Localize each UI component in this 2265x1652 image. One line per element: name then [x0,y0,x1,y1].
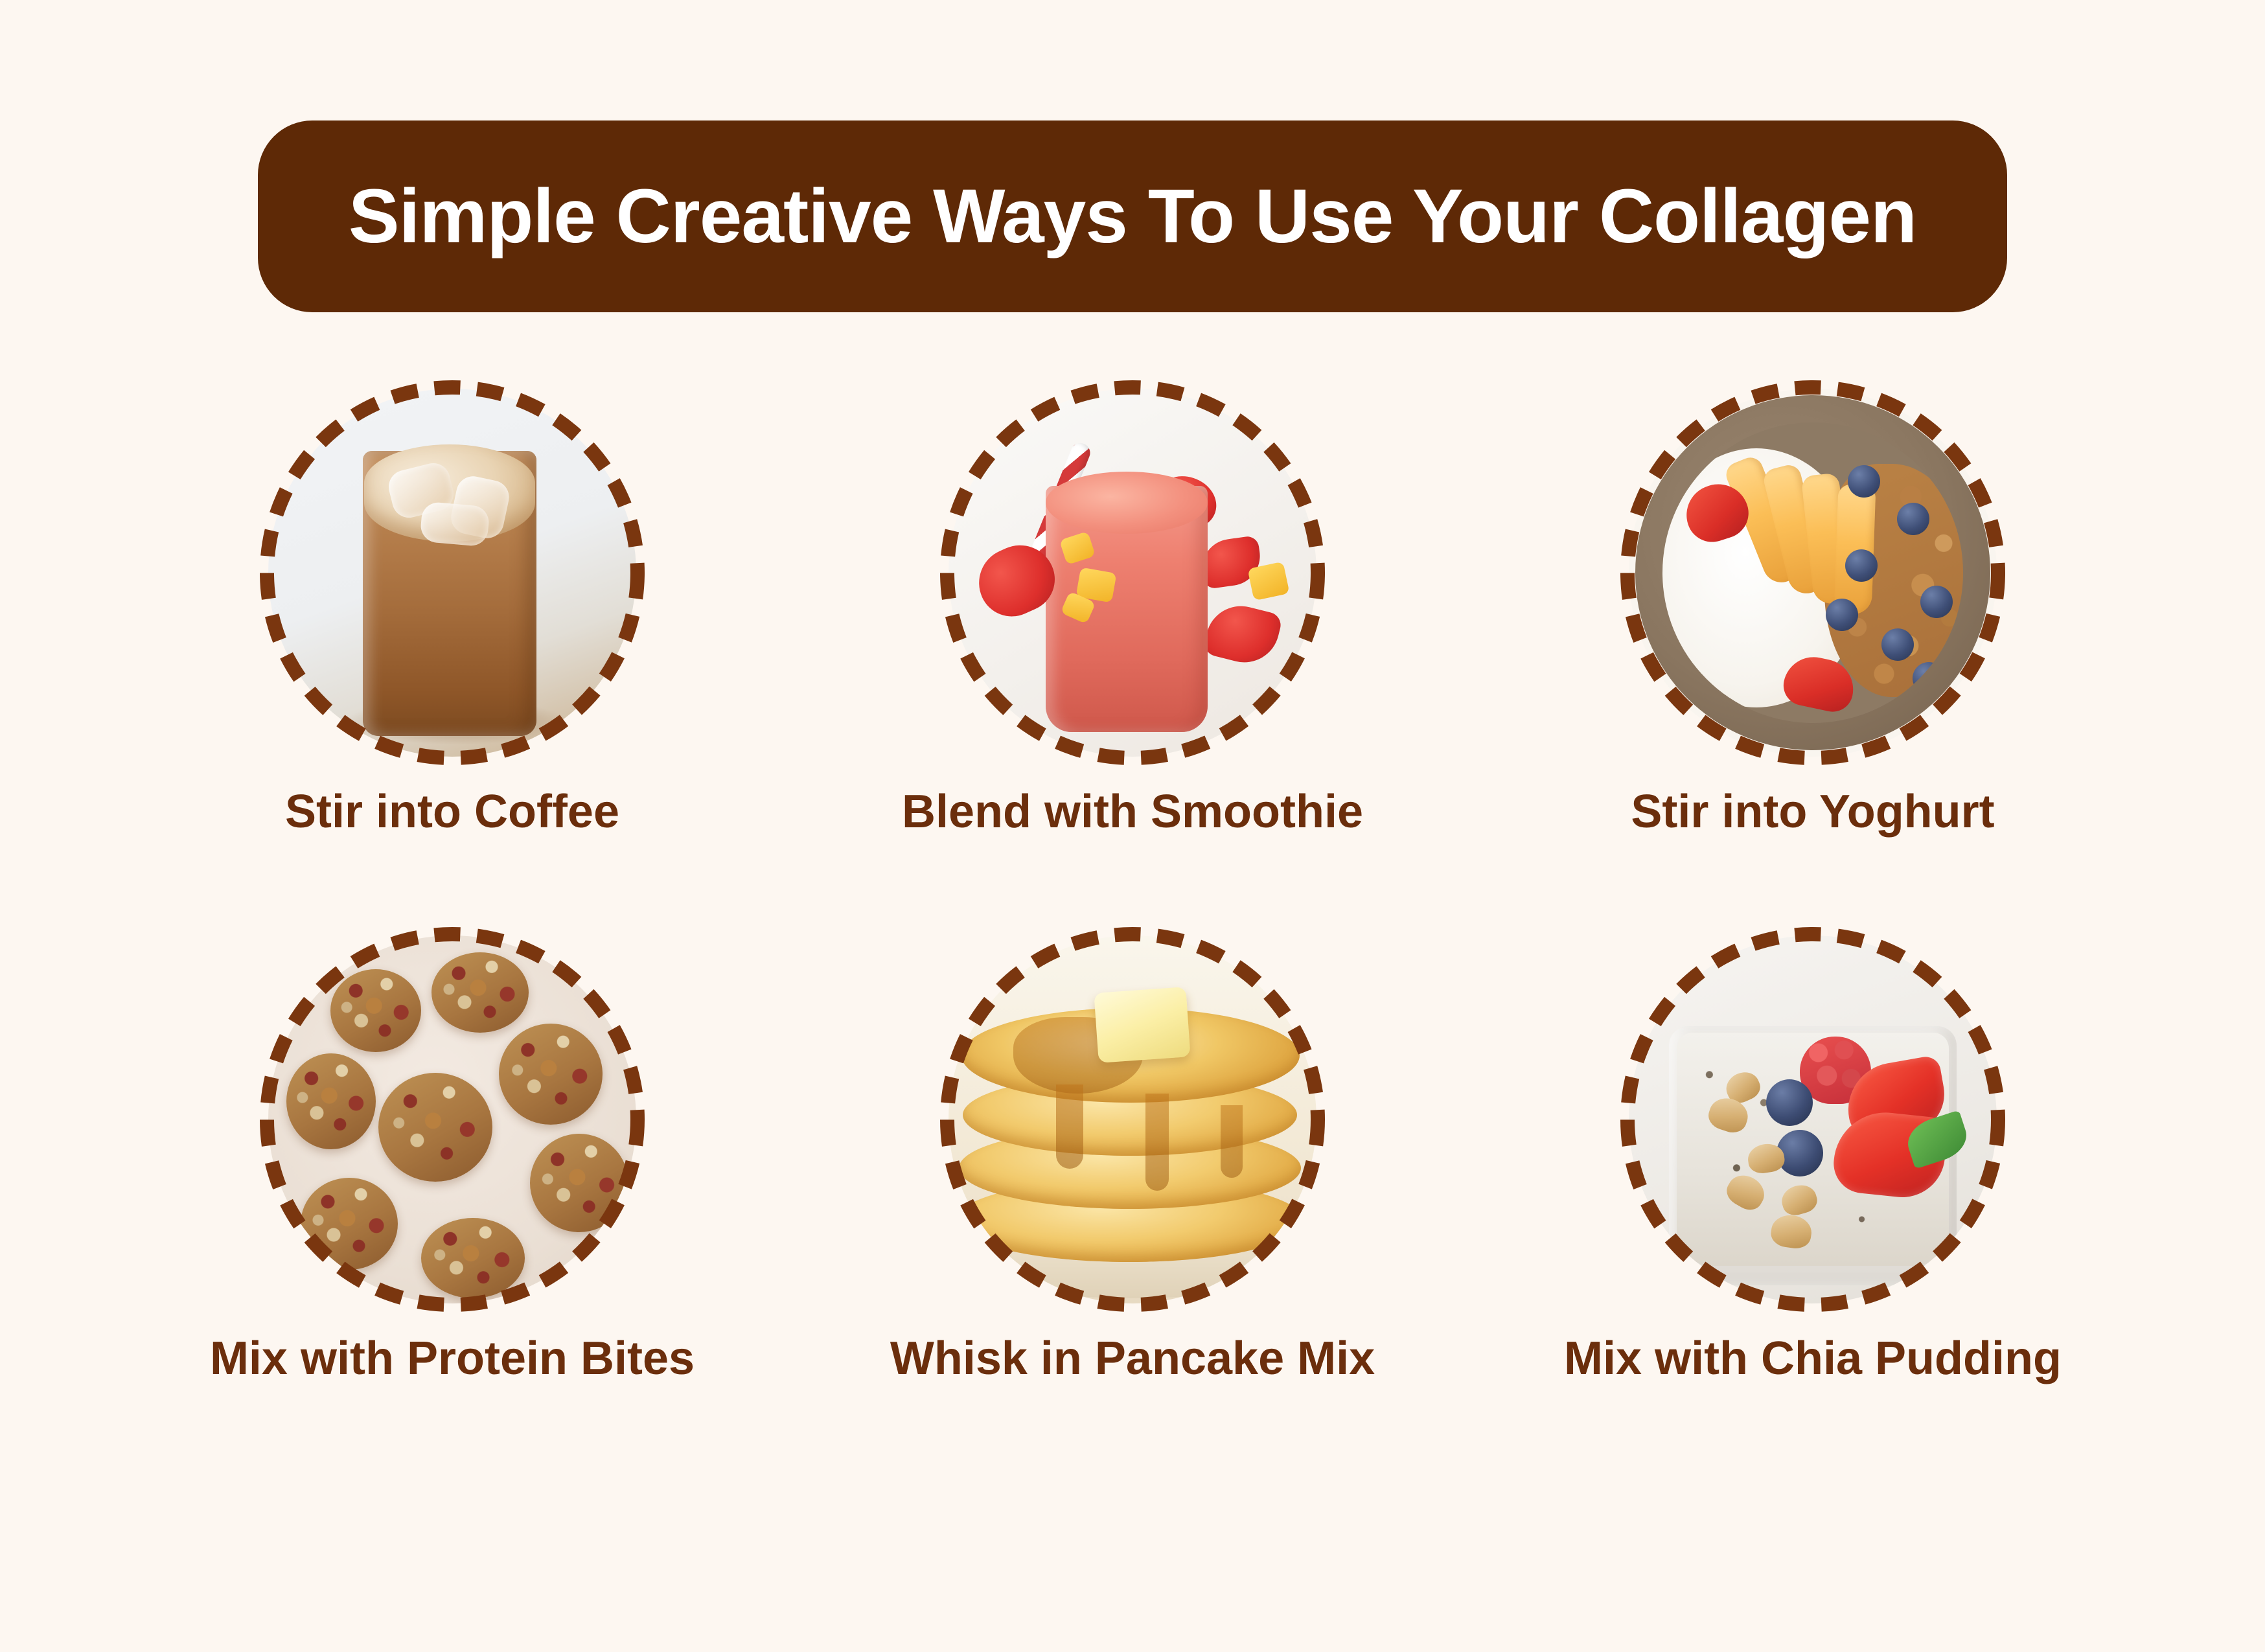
card-chia-pudding[interactable]: Mix with Chia Pudding [1612,935,2014,1384]
grid-row: Stir into Coffee [0,389,2265,837]
card-caption-smoothie: Blend with Smoothie [902,788,1363,837]
card-protein-bites[interactable]: Mix with Protein Bites [251,935,653,1384]
card-coffee[interactable]: Stir into Coffee [251,389,653,837]
card-caption-pancakes: Whisk in Pancake Mix [890,1335,1375,1384]
photo-frame-coffee [268,389,636,757]
card-caption-protein-bites: Mix with Protein Bites [210,1335,695,1384]
pancake-stack-photo [949,935,1316,1303]
grid-row: Mix with Protein Bites [0,935,2265,1384]
photo-frame-protein-bites [268,935,636,1303]
strawberry-smoothie-photo [949,389,1316,757]
protein-bites-photo [268,935,636,1303]
photo-frame-pancakes [949,935,1316,1303]
photo-frame-chia-pudding [1629,935,1997,1303]
card-smoothie[interactable]: Blend with Smoothie [932,389,1333,837]
card-caption-yoghurt: Stir into Yoghurt [1631,788,1994,837]
header-banner: Simple Creative Ways To Use Your Collage… [258,120,2007,312]
chia-pudding-photo [1629,935,1997,1303]
card-yoghurt[interactable]: Stir into Yoghurt [1612,389,2014,837]
iced-coffee-photo [268,389,636,757]
yoghurt-bowl-photo [1629,389,1997,757]
photo-frame-yoghurt [1629,389,1997,757]
page-title: Simple Creative Ways To Use Your Collage… [349,178,1916,255]
photo-frame-smoothie [949,389,1316,757]
ways-grid: Stir into Coffee [0,389,2265,1383]
card-caption-coffee: Stir into Coffee [285,788,619,837]
card-pancakes[interactable]: Whisk in Pancake Mix [932,935,1333,1384]
card-caption-chia-pudding: Mix with Chia Pudding [1564,1335,2062,1384]
